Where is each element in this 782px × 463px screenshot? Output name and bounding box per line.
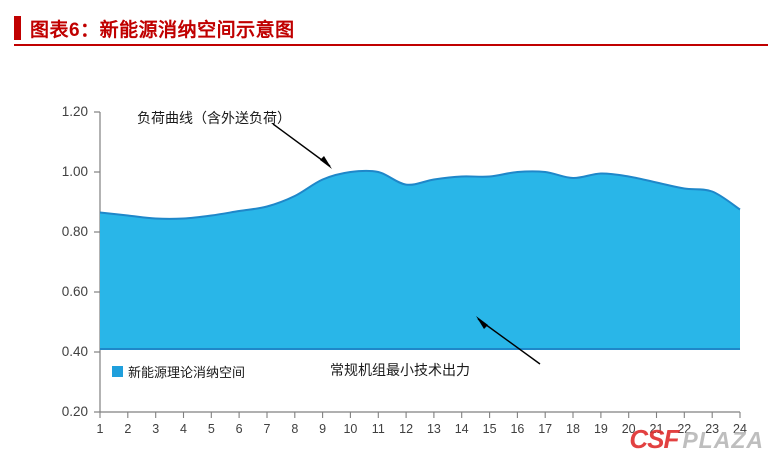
page-title: 图表6：新能源消纳空间示意图 — [30, 15, 295, 42]
annotation-min-output: 常规机组最小技术出力 — [330, 360, 470, 380]
y-tick-label: 1.00 — [44, 164, 88, 179]
figure-title-bar: 图表6：新能源消纳空间示意图 — [14, 12, 768, 46]
x-tick-label: 12 — [396, 422, 416, 436]
x-tick-label: 19 — [591, 422, 611, 436]
y-tick-label: 0.20 — [44, 404, 88, 419]
x-tick-label: 11 — [368, 422, 388, 436]
x-tick-label: 4 — [174, 422, 194, 436]
x-tick-label: 18 — [563, 422, 583, 436]
watermark-text: PLAZA — [682, 427, 764, 454]
x-tick-label: 14 — [452, 422, 472, 436]
chart-svg — [0, 56, 782, 456]
y-tick-label: 0.80 — [44, 224, 88, 239]
chart-container: 1.20 1.00 0.80 0.60 0.40 0.20 1 2 3 4 5 … — [0, 56, 782, 456]
x-tick-label: 10 — [340, 422, 360, 436]
x-tick-label: 3 — [146, 422, 166, 436]
title-divider — [14, 44, 768, 46]
legend-swatch-icon — [112, 366, 123, 377]
consumption-space-area — [100, 171, 740, 349]
y-tick-label: 0.60 — [44, 284, 88, 299]
watermark: CSF PLAZA — [629, 424, 764, 455]
x-tick-label: 13 — [424, 422, 444, 436]
x-tick-label: 7 — [257, 422, 277, 436]
legend-label: 新能源理论消纳空间 — [128, 362, 245, 381]
watermark-logo: CSF — [629, 424, 678, 455]
y-tick-label: 0.40 — [44, 344, 88, 359]
x-tick-label: 1 — [90, 422, 110, 436]
title-accent-bar — [14, 16, 21, 40]
x-tick-marks — [100, 412, 740, 418]
x-tick-label: 8 — [285, 422, 305, 436]
chart-legend: 新能源理论消纳空间 — [112, 362, 245, 381]
x-tick-label: 16 — [507, 422, 527, 436]
x-tick-label: 9 — [313, 422, 333, 436]
y-tick-label: 1.20 — [44, 104, 88, 119]
x-tick-label: 15 — [480, 422, 500, 436]
x-tick-label: 17 — [535, 422, 555, 436]
x-tick-label: 2 — [118, 422, 138, 436]
x-tick-label: 5 — [201, 422, 221, 436]
y-tick-marks — [94, 112, 100, 412]
annotation-load-curve: 负荷曲线（含外送负荷） — [137, 108, 291, 128]
load-curve-arrow — [273, 124, 332, 169]
x-tick-label: 6 — [229, 422, 249, 436]
